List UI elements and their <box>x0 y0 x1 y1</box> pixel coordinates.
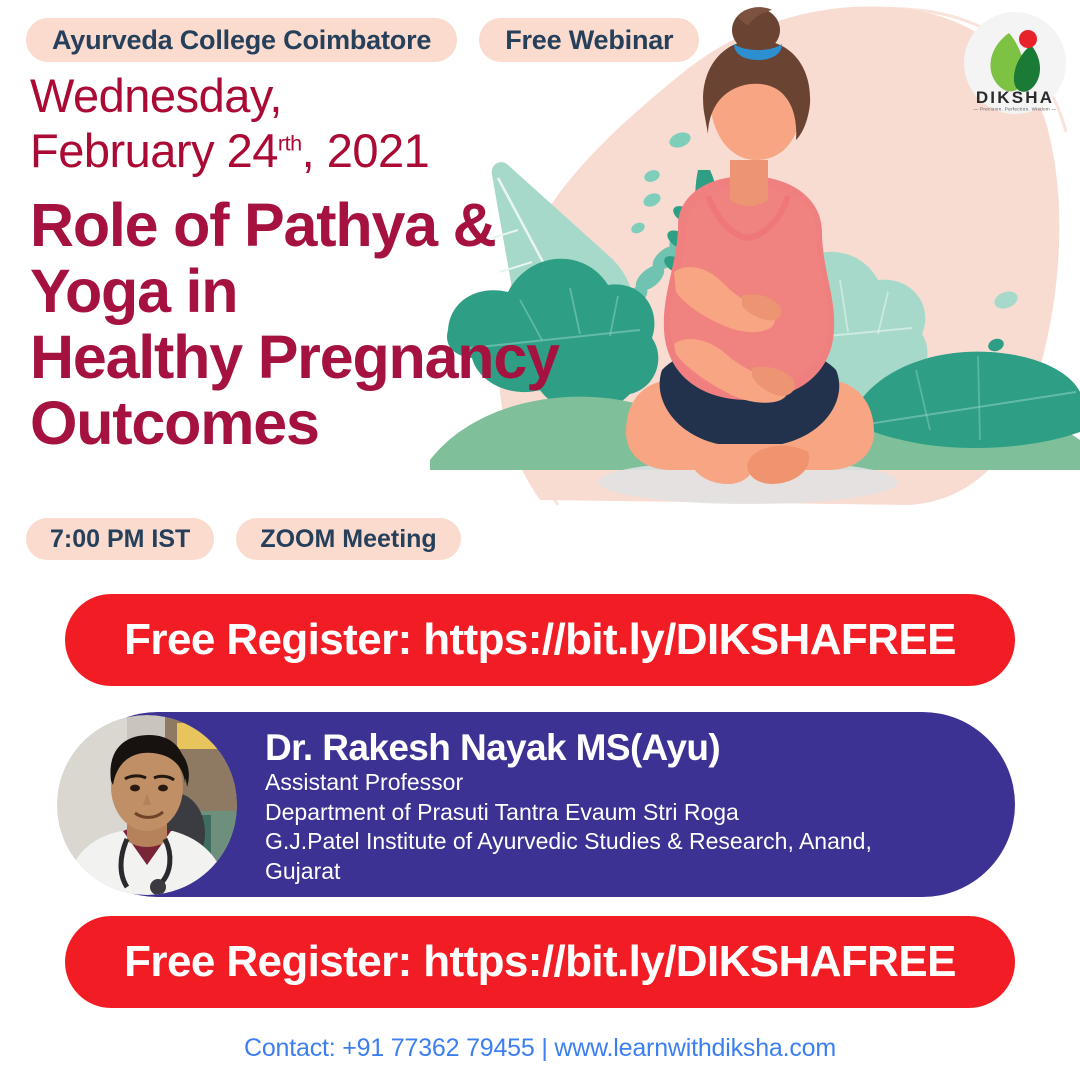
speaker-details: Dr. Rakesh Nayak MS(Ayu) Assistant Profe… <box>265 723 872 886</box>
page-title: Role of Pathya & Yoga in Healthy Pregnan… <box>30 193 730 457</box>
speaker-institute-line-1: G.J.Patel Institute of Ayurvedic Studies… <box>265 827 872 856</box>
time-badge: 7:00 PM IST <box>26 518 214 560</box>
speaker-name: Dr. Rakesh Nayak MS(Ayu) <box>265 727 872 768</box>
event-date: Wednesday, February 24rth, 2021 <box>30 68 429 179</box>
date-line-1: Wednesday, <box>30 68 429 123</box>
organizer-badge: Ayurveda College Coimbatore <box>26 18 457 62</box>
free-webinar-badge: Free Webinar <box>479 18 699 62</box>
webinar-poster: Ayurveda College Coimbatore Free Webinar… <box>0 0 1080 1080</box>
logo-dot-icon <box>1019 30 1037 48</box>
title-line-2: Yoga in <box>30 259 730 325</box>
speaker-institute-line-2: Gujarat <box>265 857 872 886</box>
title-line-4: Outcomes <box>30 391 730 457</box>
event-meta-badges: 7:00 PM IST ZOOM Meeting <box>26 518 461 560</box>
footer-contact[interactable]: Contact: +91 77362 79455 | www.learnwith… <box>0 1034 1080 1063</box>
date-line-2: February 24rth, 2021 <box>30 123 429 178</box>
diksha-logo: DIKSHA — Precision. Perfection. Wisdom — <box>964 12 1066 114</box>
register-button-top[interactable]: Free Register: https://bit.ly/DIKSHAFREE <box>65 594 1015 686</box>
logo-brand-text: DIKSHA <box>976 88 1054 107</box>
logo-tagline-text: — Precision. Perfection. Wisdom — <box>974 107 1057 112</box>
speaker-avatar <box>57 715 237 895</box>
title-line-1: Role of Pathya & <box>30 193 730 259</box>
speaker-department: Department of Prasuti Tantra Evaum Stri … <box>265 798 872 827</box>
date-month-day: February 24 <box>30 124 278 177</box>
register-button-bottom[interactable]: Free Register: https://bit.ly/DIKSHAFREE <box>65 916 1015 1008</box>
title-line-3: Healthy Pregnancy <box>30 325 730 391</box>
speaker-designation: Assistant Professor <box>265 768 872 797</box>
date-year: , 2021 <box>302 124 430 177</box>
speaker-card: Dr. Rakesh Nayak MS(Ayu) Assistant Profe… <box>65 712 1015 897</box>
platform-badge: ZOOM Meeting <box>236 518 460 560</box>
header-badges: Ayurveda College Coimbatore Free Webinar <box>26 18 699 62</box>
date-ordinal-suffix: rth <box>278 131 302 156</box>
